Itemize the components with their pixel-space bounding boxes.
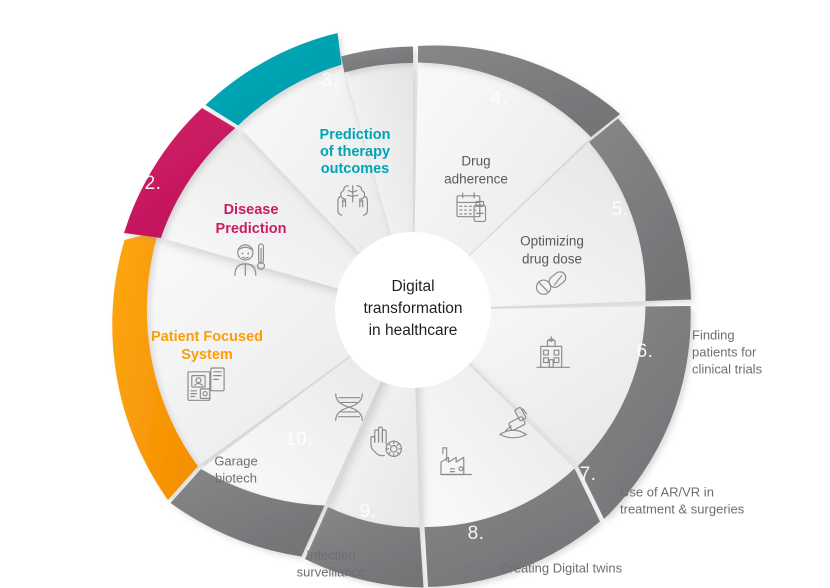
hub-line-3: in healthcare [369, 322, 458, 339]
segment-label-9-line2: surveillance [297, 564, 366, 579]
segment-label-4-line2: adherence [444, 172, 508, 187]
segment-label-7-line1: Use of AR/VR in [620, 484, 714, 499]
segment-label-7-line2: treatment & surgeries [620, 501, 745, 516]
segment-label-4-line1: Drug [461, 154, 490, 169]
segment-label-6-line3: clinical trials [692, 361, 763, 376]
segment-label-3-line1: Prediction [320, 127, 391, 143]
radial-wheel-diagram: 1. 2. 3. 4. 5. 6. 7. 8. 9. 10. Patient F… [0, 0, 830, 588]
segment-number-1: 1. [68, 346, 85, 367]
label-group-3: Prediction of therapy outcomes [320, 127, 391, 177]
label-group-8: Creating Digital twins [500, 560, 623, 575]
segment-label-6-line1: Finding [692, 327, 735, 342]
segment-label-3-line2: of therapy [320, 144, 390, 160]
segment-number-10: 10. [285, 429, 313, 450]
segment-number-8: 8. [468, 523, 485, 544]
segment-label-10-line1: Garage [214, 453, 257, 468]
segment-label-2-line1: Disease [224, 202, 279, 218]
hub-line-2: transformation [363, 300, 462, 317]
segment-label-5-line2: drug dose [522, 252, 582, 267]
hub-line-1: Digital [391, 278, 434, 295]
segment-number-5: 5. [612, 199, 629, 220]
segment-label-6-line2: patients for [692, 344, 757, 359]
segment-label-1-line2: System [181, 347, 233, 363]
segment-number-7: 7. [580, 464, 597, 485]
segment-label-3-line3: outcomes [321, 161, 390, 177]
segment-label-2-line2: Prediction [216, 221, 287, 237]
segment-number-6: 6. [637, 341, 654, 362]
segment-label-8-line1: Creating Digital twins [500, 560, 623, 575]
segment-label-9-line1: Infection [306, 547, 355, 562]
label-group-6: Finding patients for clinical trials [692, 327, 763, 376]
segment-label-10-line2: biotech [215, 470, 257, 485]
segment-label-5-line1: Optimizing [520, 234, 584, 249]
segment-number-3: 3. [322, 70, 339, 91]
segment-number-2: 2. [145, 173, 162, 194]
segment-number-9: 9. [360, 501, 377, 522]
segment-label-1-line1: Patient Focused [151, 329, 263, 345]
label-group-7: Use of AR/VR in treatment & surgeries [620, 484, 745, 516]
segment-number-4: 4. [491, 88, 508, 109]
hub: Digital transformation in healthcare [335, 232, 491, 388]
infographic-canvas: 1. 2. 3. 4. 5. 6. 7. 8. 9. 10. Patient F… [0, 0, 830, 588]
